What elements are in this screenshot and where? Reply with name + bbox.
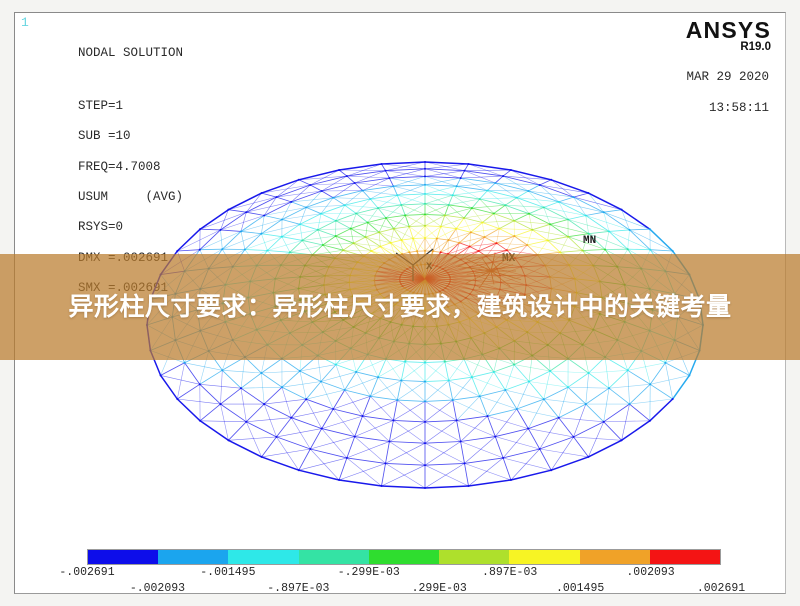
header-line-step: STEP=1 [78,99,123,113]
legend-tick-lower-0: -.002093 [130,582,185,594]
header-line-rsys: RSYS=0 [78,220,123,234]
header-line-freq: FREQ=4.7008 [78,160,161,174]
legend-tick-lower-2: .299E-03 [412,582,467,594]
legend-swatch-0 [88,550,158,564]
legend-tick-lower-3: .001495 [556,582,604,594]
mn-marker-label: MN [583,235,596,247]
legend-swatch-8 [650,550,720,564]
legend-tick-upper-0: -.002691 [59,566,114,579]
legend-swatch-2 [228,550,298,564]
legend-tick-upper-3: .897E-03 [482,566,537,579]
legend-tick-lower-1: -.897E-03 [267,582,329,594]
ansys-logo: ANSYS R19.0 [686,19,771,53]
ansys-brand-name: ANSYS [686,19,771,41]
plot-date: MAR 29 2020 [686,70,769,84]
legend-swatch-1 [158,550,228,564]
nodal-solution-title: NODAL SOLUTION [78,46,183,60]
color-legend-bar [87,549,721,565]
legend-tick-upper-4: .002093 [626,566,674,579]
legend-tick-upper-2: -.299E-03 [338,566,400,579]
legend-tick-upper-1: -.001495 [200,566,255,579]
plot-time: 13:58:11 [709,101,769,115]
header-line-sub: SUB =10 [78,129,131,143]
overlay-title-text: 异形柱尺寸要求：异形柱尺寸要求，建筑设计中的关键考量 [40,287,760,327]
legend-swatch-4 [369,550,439,564]
window-index-label: 1 [21,15,29,30]
legend-swatch-3 [299,550,369,564]
header-line-usum: USUM (AVG) [78,190,183,204]
color-legend-labels: -.002691-.001495-.299E-03.897E-03.002093… [15,566,786,594]
legend-swatch-6 [509,550,579,564]
ansys-screenshot: 1 NODAL SOLUTION STEP=1 SUB =10 FREQ=4.7… [0,0,800,606]
legend-swatch-5 [439,550,509,564]
timestamp-block: MAR 29 2020 13:58:11 [641,55,769,131]
title-overlay-band: 异形柱尺寸要求：异形柱尺寸要求，建筑设计中的关键考量 [0,254,800,360]
legend-swatch-7 [580,550,650,564]
legend-tick-lower-4: .002691 [697,582,745,594]
